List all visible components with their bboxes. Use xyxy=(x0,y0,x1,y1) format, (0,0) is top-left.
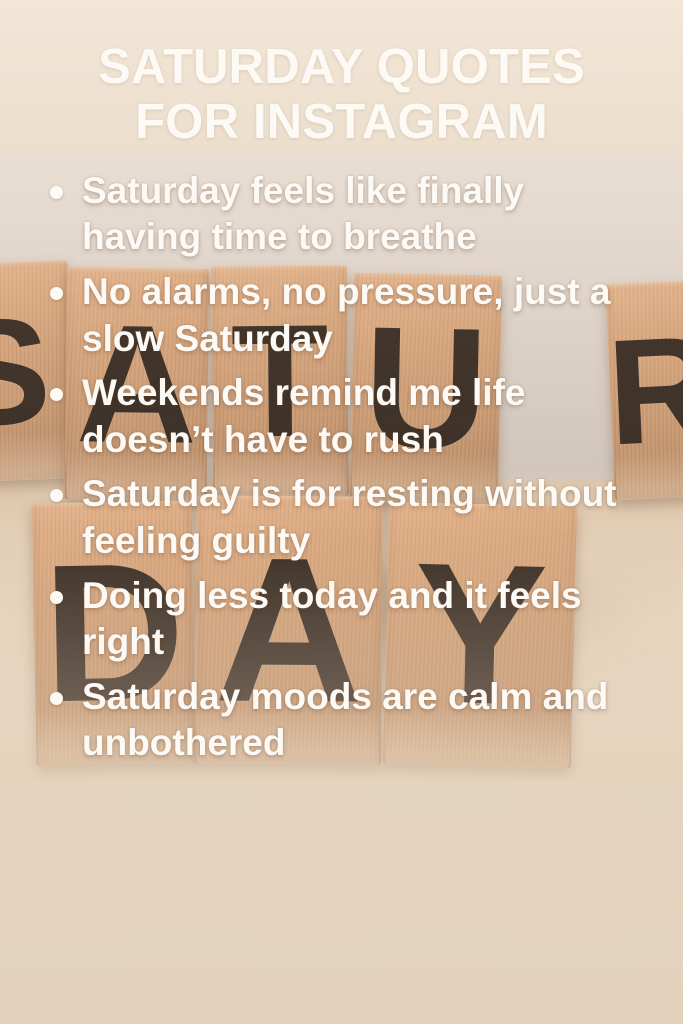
quote-text: Saturday is for resting without feeling … xyxy=(82,473,617,561)
page-title-line-2: FOR INSTAGRAM xyxy=(36,95,647,150)
list-item: Doing less today and it feels right xyxy=(40,573,653,666)
list-item: Weekends remind me life doesn’t have to … xyxy=(40,370,653,463)
quote-text: Saturday feels like finally having time … xyxy=(82,170,524,258)
list-item: Saturday feels like finally having time … xyxy=(40,168,653,261)
bullet-dot-icon xyxy=(50,489,63,502)
list-item: No alarms, no pressure, just a slow Satu… xyxy=(40,269,653,362)
page-title: SATURDAY QUOTES FOR INSTAGRAM xyxy=(36,40,647,150)
bullet-dot-icon xyxy=(50,692,63,705)
quote-text: Weekends remind me life doesn’t have to … xyxy=(82,372,525,460)
quote-list: Saturday feels like finally having time … xyxy=(40,168,653,767)
list-item: Saturday moods are calm and unbothered xyxy=(40,674,653,767)
bullet-dot-icon xyxy=(50,287,63,300)
bullet-dot-icon xyxy=(50,186,63,199)
page-title-line-1: SATURDAY QUOTES xyxy=(36,40,647,95)
quote-text: Saturday moods are calm and unbothered xyxy=(82,676,608,764)
pinterest-quote-graphic: S A T U R D A Y SATURDAY QUOTES FOR INST… xyxy=(0,0,683,1024)
bullet-dot-icon xyxy=(50,591,63,604)
quote-text: No alarms, no pressure, just a slow Satu… xyxy=(82,271,610,359)
bullet-dot-icon xyxy=(50,388,63,401)
quote-text: Doing less today and it feels right xyxy=(82,575,582,663)
content-overlay: SATURDAY QUOTES FOR INSTAGRAM Saturday f… xyxy=(0,0,683,1024)
list-item: Saturday is for resting without feeling … xyxy=(40,471,653,564)
